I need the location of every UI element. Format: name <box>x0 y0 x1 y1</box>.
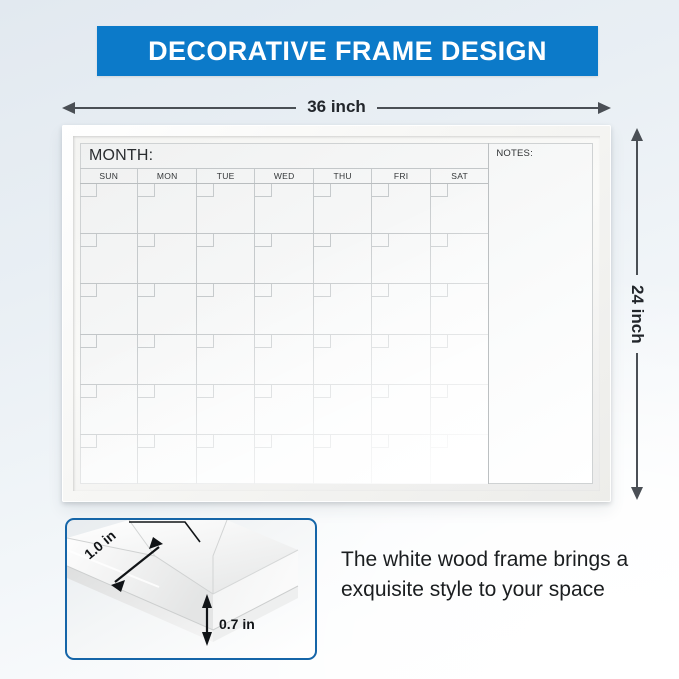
board-surface: MONTH: SUN MON TUE WED THU FRI SAT NOTES… <box>80 143 593 484</box>
calendar-date-box <box>314 284 331 297</box>
calendar-day-cell[interactable] <box>314 234 372 283</box>
calendar-date-box <box>80 284 97 297</box>
calendar-date-box <box>197 284 214 297</box>
calendar-day-cell[interactable] <box>255 385 313 434</box>
calendar-week-row <box>80 385 488 435</box>
calendar-day-cell[interactable] <box>138 335 196 384</box>
calendar-grid <box>80 184 488 484</box>
calendar-day-cell[interactable] <box>138 284 196 333</box>
calendar-day-cell[interactable] <box>372 184 430 233</box>
calendar-day-cell[interactable] <box>372 234 430 283</box>
calendar-day-cell[interactable] <box>138 234 196 283</box>
calendar-date-box <box>314 335 331 348</box>
calendar-date-box <box>314 435 331 448</box>
calendar-week-row <box>80 284 488 334</box>
calendar-date-box <box>138 284 155 297</box>
dimension-line-bottom <box>636 353 638 487</box>
caption-text: The white wood frame brings a exquisite … <box>341 545 641 605</box>
arrow-left-icon <box>62 102 75 114</box>
calendar-week-row <box>80 435 488 484</box>
calendar-date-box <box>138 234 155 247</box>
calendar-date-box <box>314 385 331 398</box>
banner-title: DECORATIVE FRAME DESIGN <box>148 36 547 67</box>
calendar-day-cell[interactable] <box>372 335 430 384</box>
frame-detail-inset: 1.0 in 0.7 in <box>65 518 317 660</box>
calendar-date-box <box>431 284 448 297</box>
arrow-up-icon <box>631 128 643 141</box>
calendar-date-box <box>372 184 389 197</box>
calendar-date-box <box>255 284 272 297</box>
calendar-date-box <box>138 435 155 448</box>
calendar-day-cell[interactable] <box>80 435 138 484</box>
calendar-week-row <box>80 335 488 385</box>
dimension-line-right <box>377 107 598 109</box>
calendar-date-box <box>431 234 448 247</box>
calendar-date-box <box>431 385 448 398</box>
calendar-day-cell[interactable] <box>372 435 430 484</box>
calendar-day-cell[interactable] <box>255 184 313 233</box>
calendar-date-box <box>372 385 389 398</box>
month-label: MONTH: <box>80 143 488 169</box>
calendar-day-cell[interactable] <box>431 284 488 333</box>
calendar-day-cell[interactable] <box>431 385 488 434</box>
calendar-date-box <box>197 234 214 247</box>
calendar-date-box <box>372 234 389 247</box>
day-header-thu: THU <box>314 169 372 183</box>
calendar-date-box <box>80 184 97 197</box>
calendar-date-box <box>80 335 97 348</box>
calendar-day-cell[interactable] <box>80 385 138 434</box>
calendar-date-box <box>138 184 155 197</box>
calendar-date-box <box>255 385 272 398</box>
calendar-day-cell[interactable] <box>314 284 372 333</box>
height-dimension: 24 inch <box>624 128 650 500</box>
calendar-day-cell[interactable] <box>431 234 488 283</box>
calendar-date-box <box>138 385 155 398</box>
calendar-day-cell[interactable] <box>255 435 313 484</box>
calendar-day-cell[interactable] <box>255 234 313 283</box>
notes-section: NOTES: <box>489 143 593 484</box>
arrow-right-icon <box>598 102 611 114</box>
header-banner: DECORATIVE FRAME DESIGN <box>97 26 598 76</box>
calendar-date-box <box>372 435 389 448</box>
calendar-day-cell[interactable] <box>314 335 372 384</box>
calendar-day-cell[interactable] <box>197 335 255 384</box>
infographic-page: DECORATIVE FRAME DESIGN 36 inch 24 inch … <box>0 0 679 679</box>
calendar-date-box <box>431 435 448 448</box>
dimension-line-left <box>75 107 296 109</box>
calendar-day-cell[interactable] <box>138 435 196 484</box>
calendar-day-cell[interactable] <box>197 234 255 283</box>
frame-thickness-label: 0.7 in <box>219 616 255 632</box>
calendar-date-box <box>314 184 331 197</box>
calendar-day-cell[interactable] <box>80 234 138 283</box>
calendar-day-cell[interactable] <box>197 385 255 434</box>
calendar-day-cell[interactable] <box>197 184 255 233</box>
calendar-date-box <box>372 284 389 297</box>
calendar-day-cell[interactable] <box>431 335 488 384</box>
calendar-date-box <box>80 435 97 448</box>
calendar-day-cell[interactable] <box>255 284 313 333</box>
calendar-date-box <box>197 335 214 348</box>
day-header-tue: TUE <box>197 169 255 183</box>
calendar-date-box <box>197 385 214 398</box>
width-dimension-label: 36 inch <box>296 97 377 117</box>
day-header-sat: SAT <box>431 169 488 183</box>
calendar-day-cell[interactable] <box>138 184 196 233</box>
calendar-date-box <box>197 184 214 197</box>
calendar-day-cell[interactable] <box>372 284 430 333</box>
calendar-day-cell[interactable] <box>80 335 138 384</box>
calendar-day-cell[interactable] <box>314 435 372 484</box>
calendar-day-cell[interactable] <box>138 385 196 434</box>
calendar-day-cell[interactable] <box>255 335 313 384</box>
calendar-day-cell[interactable] <box>372 385 430 434</box>
day-header-row: SUN MON TUE WED THU FRI SAT <box>80 169 488 184</box>
day-header-sun: SUN <box>80 169 138 183</box>
calendar-day-cell[interactable] <box>197 284 255 333</box>
calendar-day-cell[interactable] <box>431 184 488 233</box>
day-header-wed: WED <box>255 169 313 183</box>
day-header-fri: FRI <box>372 169 430 183</box>
calendar-week-row <box>80 184 488 234</box>
calendar-day-cell[interactable] <box>314 184 372 233</box>
calendar-date-box <box>431 335 448 348</box>
notes-label: NOTES: <box>496 148 593 159</box>
calendar-week-row <box>80 234 488 284</box>
dimension-line-top <box>636 141 638 275</box>
calendar-date-box <box>255 435 272 448</box>
calendar-date-box <box>255 184 272 197</box>
height-dimension-label: 24 inch <box>627 275 647 354</box>
calendar-date-box <box>197 435 214 448</box>
calendar-date-box <box>255 335 272 348</box>
calendar-day-cell[interactable] <box>197 435 255 484</box>
width-dimension: 36 inch <box>62 96 611 120</box>
whiteboard-product: MONTH: SUN MON TUE WED THU FRI SAT NOTES… <box>62 125 611 502</box>
calendar-date-box <box>138 335 155 348</box>
calendar-day-cell[interactable] <box>80 284 138 333</box>
calendar-day-cell[interactable] <box>80 184 138 233</box>
arrow-down-icon <box>631 487 643 500</box>
calendar-day-cell[interactable] <box>431 435 488 484</box>
calendar-date-box <box>80 385 97 398</box>
calendar-day-cell[interactable] <box>314 385 372 434</box>
calendar-date-box <box>314 234 331 247</box>
calendar-date-box <box>431 184 448 197</box>
calendar-section: MONTH: SUN MON TUE WED THU FRI SAT <box>80 143 489 484</box>
calendar-date-box <box>80 234 97 247</box>
calendar-date-box <box>372 335 389 348</box>
calendar-date-box <box>255 234 272 247</box>
day-header-mon: MON <box>138 169 196 183</box>
